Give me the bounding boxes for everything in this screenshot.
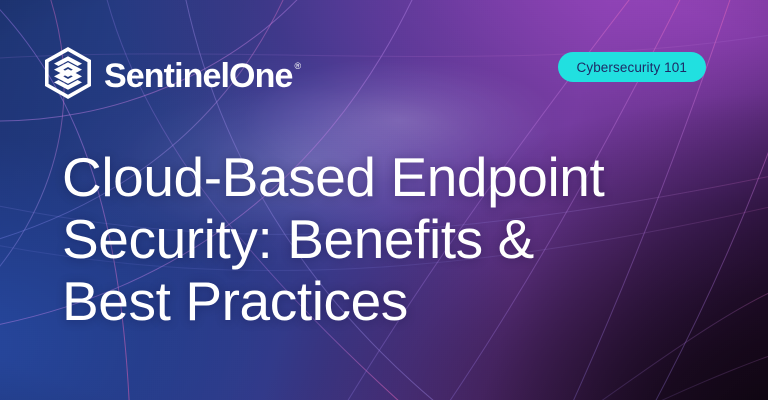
banner-header: SentinelOne ® Cybersecurity 101 bbox=[0, 0, 768, 148]
brand-name: SentinelOne bbox=[104, 59, 292, 93]
registered-trademark-icon: ® bbox=[294, 62, 301, 71]
title-line-3: Best Practices bbox=[62, 270, 722, 332]
sentinelone-wordmark: SentinelOne ® bbox=[104, 59, 301, 93]
sentinelone-logo[interactable]: SentinelOne ® bbox=[44, 47, 301, 104]
hero-banner: SentinelOne ® Cybersecurity 101 Cloud-Ba… bbox=[0, 0, 768, 400]
banner-title: Cloud-Based Endpoint Security: Benefits … bbox=[62, 146, 722, 332]
title-line-1: Cloud-Based Endpoint bbox=[62, 146, 722, 208]
category-badge[interactable]: Cybersecurity 101 bbox=[558, 52, 707, 82]
sentinelone-hexagon-icon bbox=[44, 47, 92, 104]
title-line-2: Security: Benefits & bbox=[62, 208, 722, 270]
